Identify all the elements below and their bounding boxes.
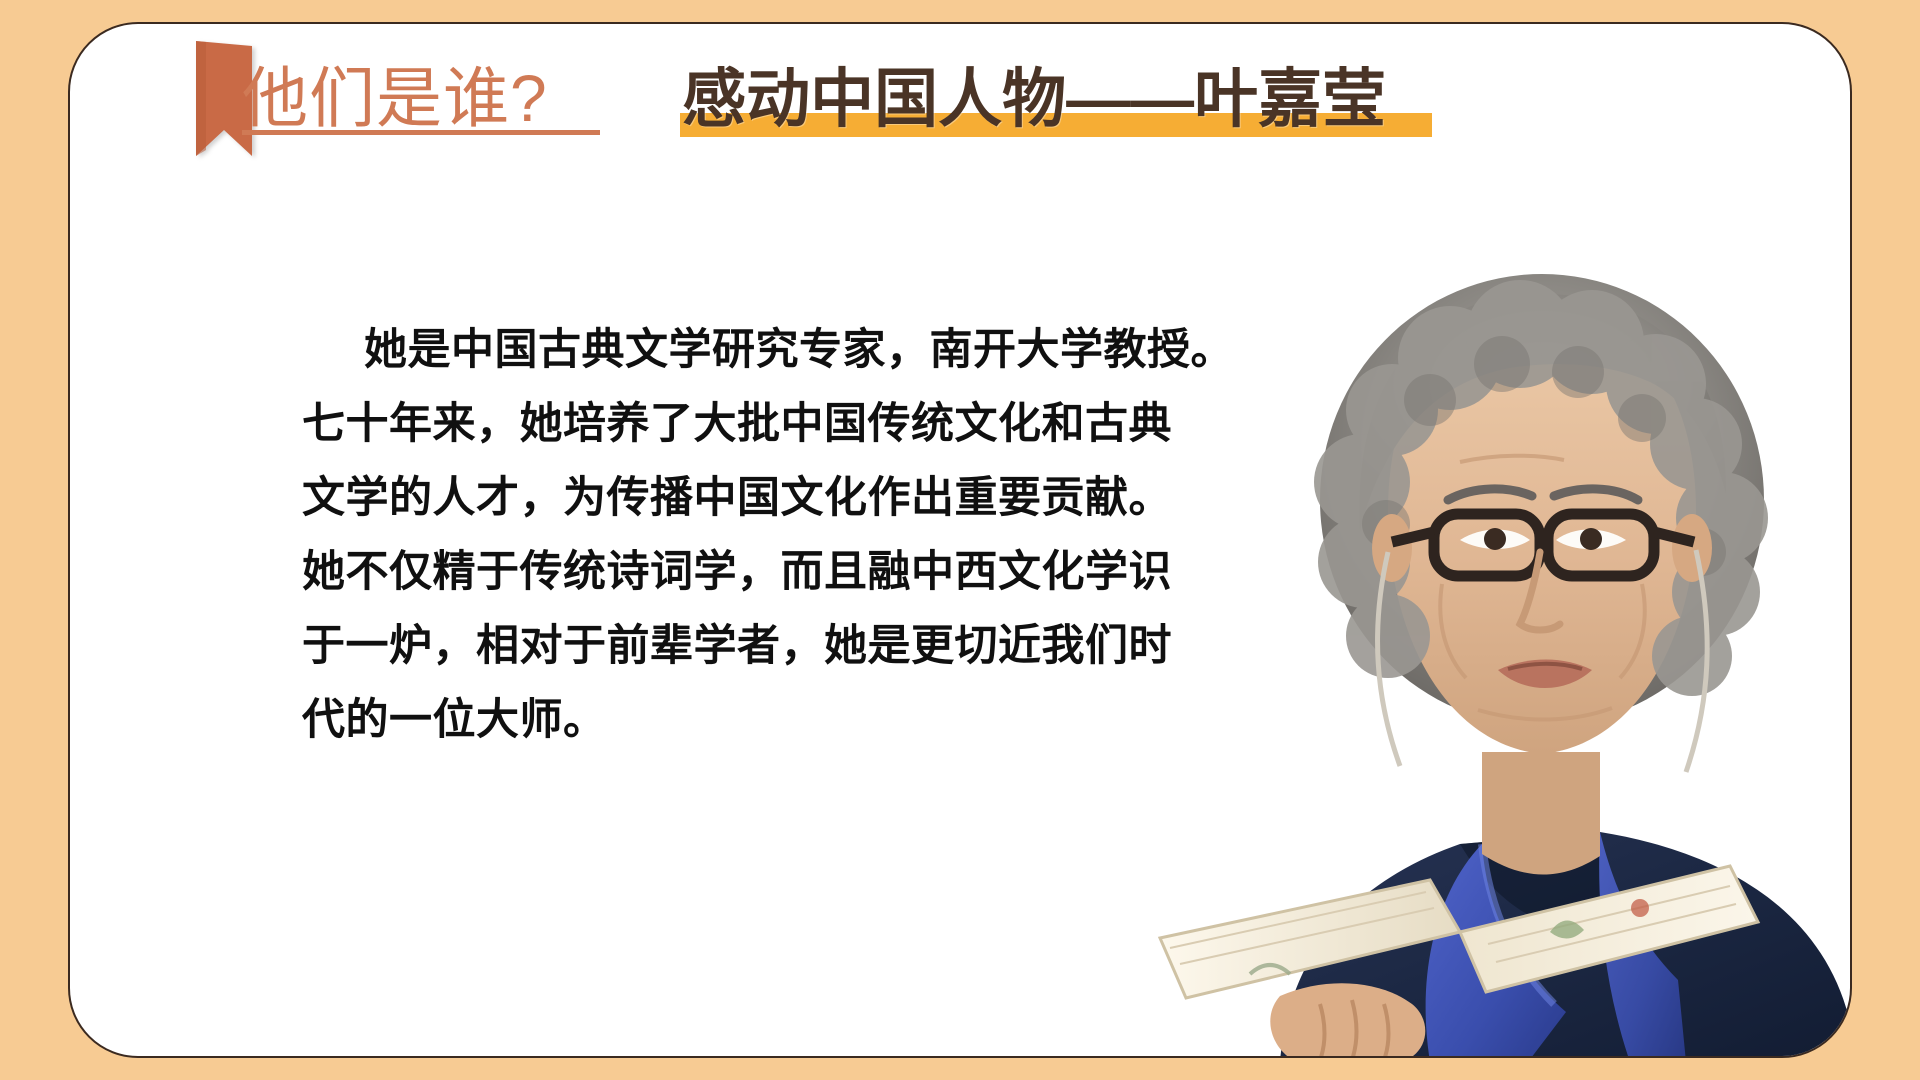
title-row: 他们是谁? [230,59,556,134]
title-underline [242,130,600,135]
body-line: 文学的人才，为传播中国文化作出重要贡献。 [302,462,1122,536]
slide-card: 他们是谁? 感动中国人物——叶嘉莹 她是中国古典文学研究专家，南开大学教授。 七… [68,22,1852,1058]
body-line: 七十年来，她培养了大批中国传统文化和古典 [302,388,1122,462]
body-line: 她是中国古典文学研究专家，南开大学教授。 [302,314,1122,388]
body-paragraph: 她是中国古典文学研究专家，南开大学教授。 七十年来，她培养了大批中国传统文化和古… [302,314,1122,758]
page-title: 他们是谁? [230,59,556,134]
portrait-ye-jiaying-photo [1130,232,1852,1058]
heading-block: 他们是谁? 感动中国人物——叶嘉莹 [230,54,1396,139]
page-subtitle: 感动中国人物——叶嘉莹 [672,64,1396,139]
subtitle-row: 感动中国人物——叶嘉莹 [672,64,1396,139]
body-line: 她不仅精于传统诗词学，而且融中西文化学识 [302,536,1122,610]
body-line: 代的一位大师。 [302,684,1122,758]
body-line: 于一炉，相对于前辈学者，她是更切近我们时 [302,610,1122,684]
